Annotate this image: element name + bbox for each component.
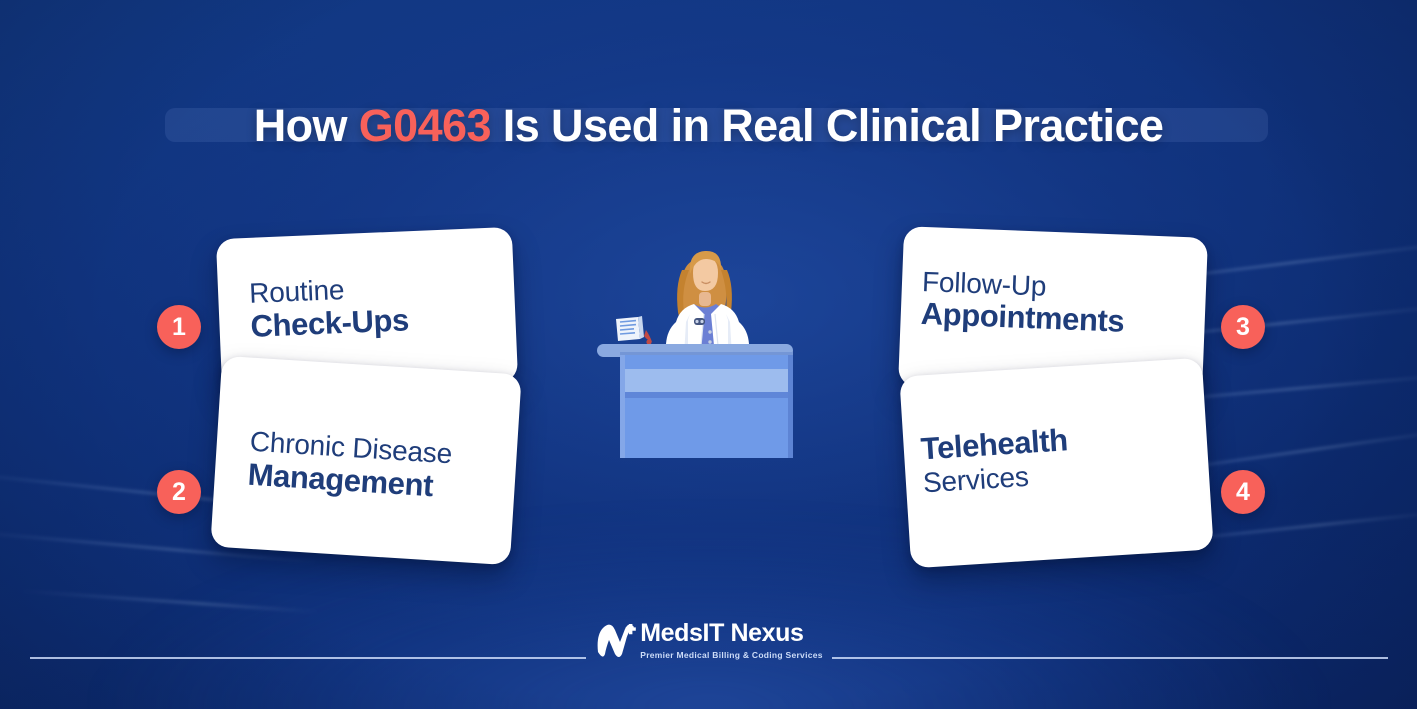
m-plus-monogram-icon xyxy=(594,620,638,660)
step-badge-4: 4 xyxy=(1221,470,1265,514)
brand-logo[interactable]: MedsIT Nexus Premier Medical Billing & C… xyxy=(0,620,1417,660)
step-badge-1: 1 xyxy=(157,305,201,349)
page-title-code: G0463 xyxy=(359,100,491,151)
infographic-canvas: How G0463 Is Used in Real Clinical Pract… xyxy=(0,0,1417,709)
page-title-prefix: How xyxy=(254,100,359,151)
doctor-figure xyxy=(661,251,753,356)
step-badge-3: 3 xyxy=(1221,305,1265,349)
card-chronic-disease-management[interactable]: Chronic Disease Management xyxy=(210,356,521,565)
clipboard-icon xyxy=(616,316,644,341)
page-title-suffix: Is Used in Real Clinical Practice xyxy=(491,100,1163,151)
reception-desk xyxy=(597,344,793,458)
doctor-at-reception-desk-illustration xyxy=(590,240,830,480)
brand-tagline: Premier Medical Billing & Coding Service… xyxy=(640,651,822,660)
card-telehealth-services[interactable]: Telehealth Services xyxy=(899,358,1213,569)
page-title: How G0463 Is Used in Real Clinical Pract… xyxy=(0,100,1417,152)
step-badge-2: 2 xyxy=(157,470,201,514)
desk-accessory-icon xyxy=(644,330,652,345)
brand-name: MedsIT Nexus xyxy=(640,621,803,646)
